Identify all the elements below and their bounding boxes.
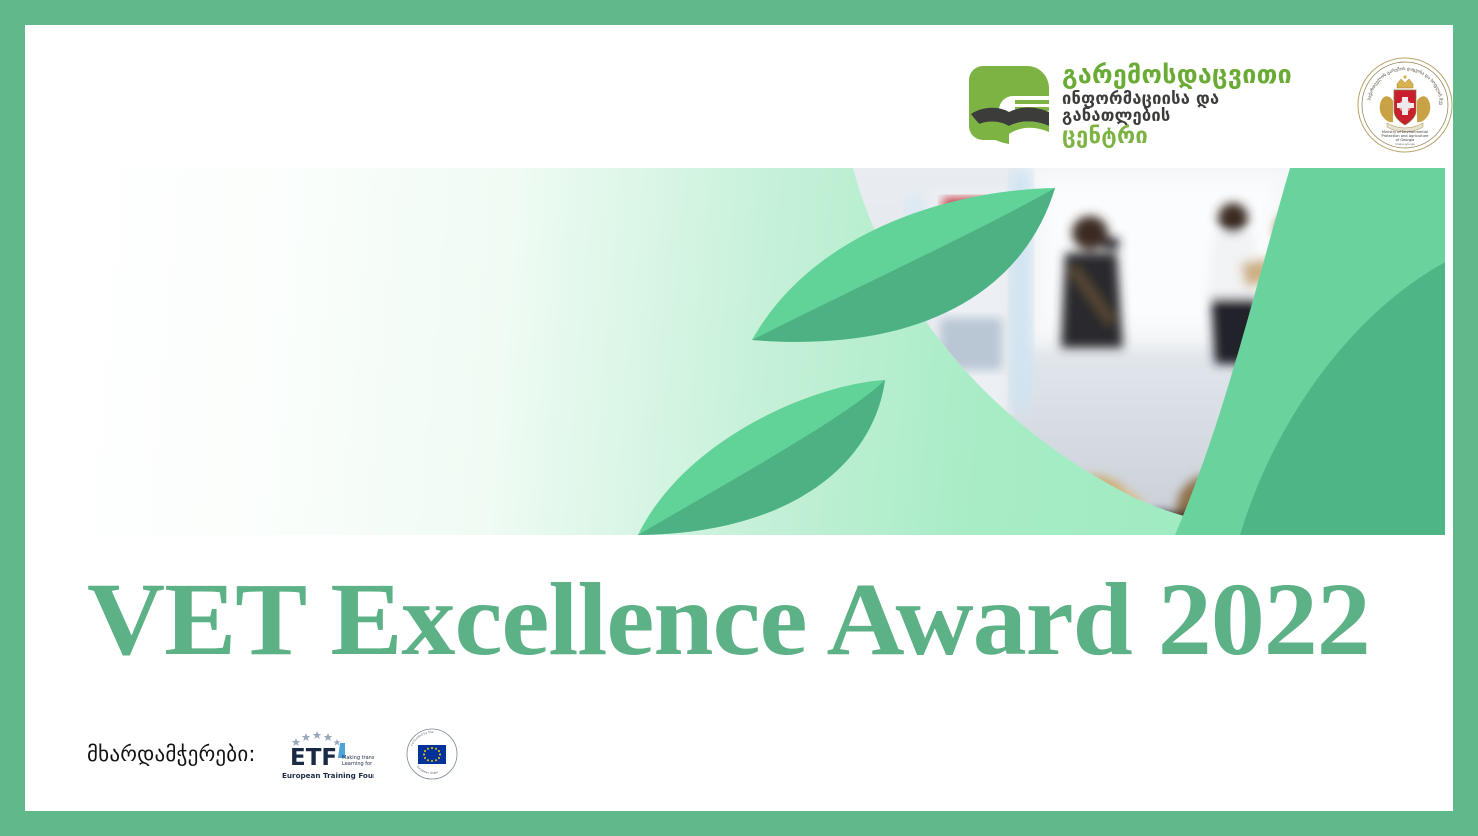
ministry-of-environmental-protection-and-agriculture-of-georgia-emblem: საქართველოს გარემოს დაცვისა და სოფლის მე…: [1357, 57, 1453, 153]
header-logos: გარემოსდაცვითი ინფორმაციისა და განათლები…: [965, 57, 1453, 153]
page-title: VET Excellence Award 2022: [87, 566, 1453, 674]
cec-logo-line2: ინფორმაციისა და განათლების: [1062, 91, 1317, 124]
hero-banner: [25, 168, 1453, 535]
etf-acronym: ETF: [290, 745, 337, 771]
etf-logo: ETF Making transitions Learning for life…: [278, 725, 374, 783]
european-union-logo: Co-funded by the European Union: [406, 728, 458, 780]
ministry-caption-line4: mepa.gov.ge: [1395, 142, 1415, 146]
cec-logo-line3: ცენტრი: [1062, 126, 1317, 148]
leaf-book-icon: [965, 62, 1053, 148]
supporters-row: მხარდამჭერები: ETF Making transitions Le…: [87, 725, 458, 783]
etf-stars-icon: [291, 731, 340, 746]
cec-logo-text: გარემოსდაცვითი ინფორმაციისა და განათლები…: [1062, 62, 1317, 148]
environmental-information-and-education-centre-logo: გარემოსდაცვითი ინფორმაციისა და განათლები…: [965, 62, 1317, 148]
etf-tagline-line2: Learning for life: [342, 761, 374, 767]
header-bar: გარემოსდაცვითი ინფორმაციისა და განათლები…: [25, 25, 1453, 168]
poster-canvas: გარემოსდაცვითი ინფორმაციისა და განათლები…: [25, 25, 1453, 811]
etf-caption: European Training Foundation: [282, 771, 374, 780]
banner-artwork: [25, 168, 1453, 535]
cec-logo-line1: გარემოსდაცვითი: [1062, 62, 1317, 87]
supporters-label: მხარდამჭერები:: [87, 742, 256, 766]
leaf-shape-bottom: [638, 380, 885, 535]
